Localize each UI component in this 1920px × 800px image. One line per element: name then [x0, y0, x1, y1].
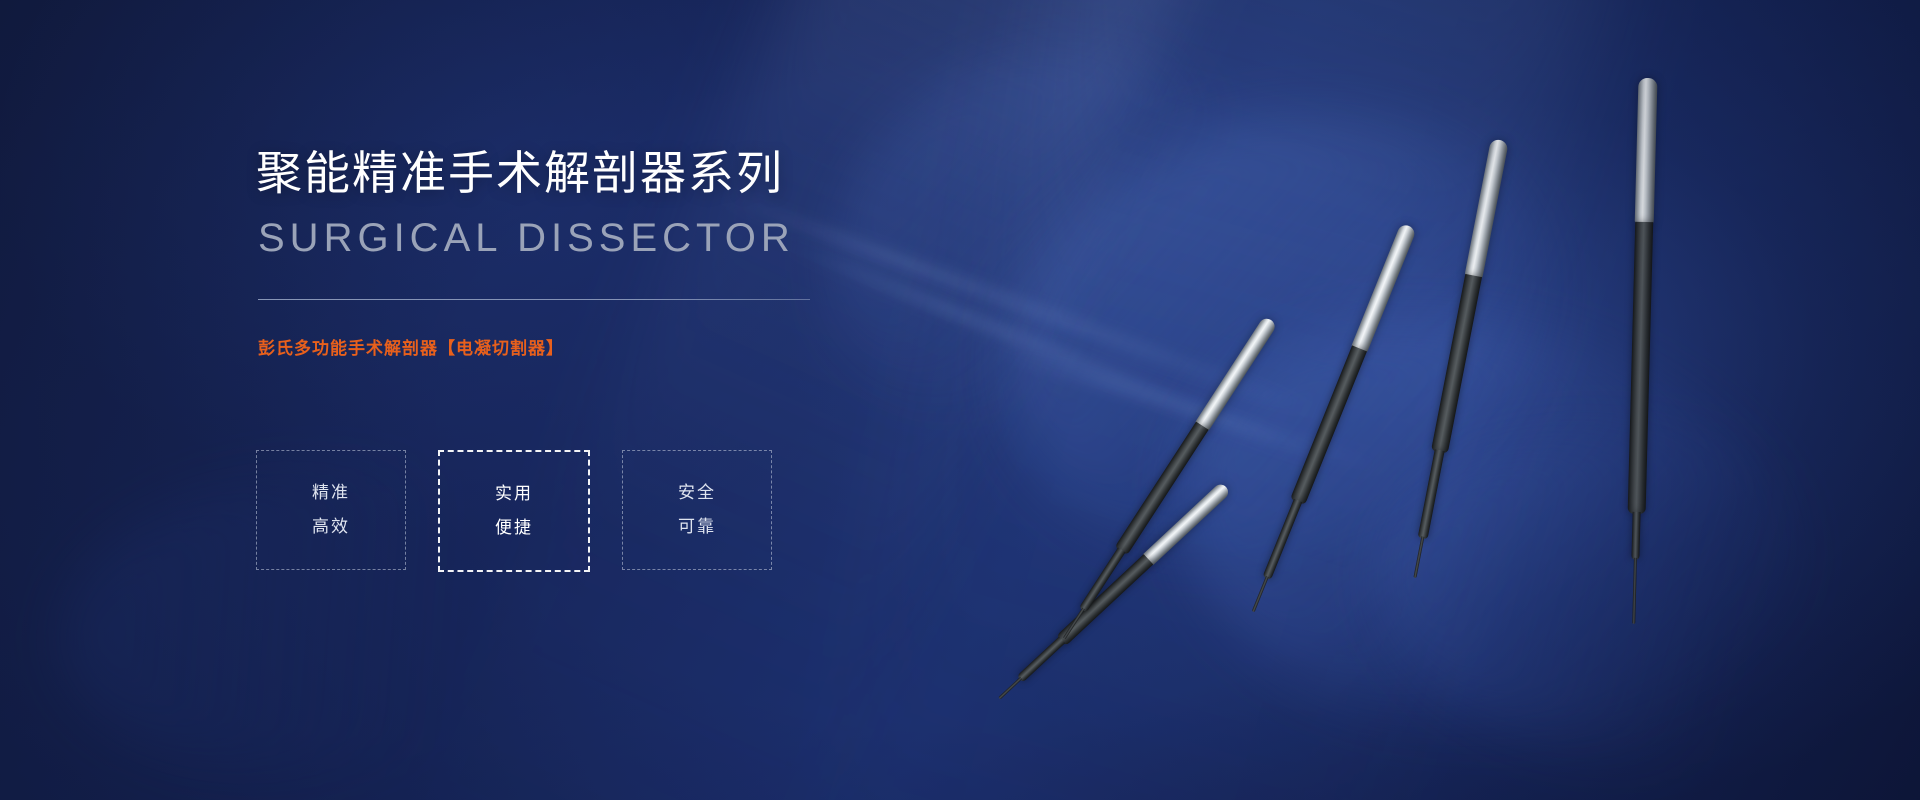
- feature-badge-practical[interactable]: 实用 便捷: [438, 450, 590, 572]
- feature-badge-line2: 可靠: [678, 510, 716, 544]
- feature-badges: 精准 高效 实用 便捷 安全 可靠: [256, 450, 772, 572]
- probe-tip: [998, 677, 1022, 700]
- page-subtitle-english: SURGICAL DISSECTOR: [258, 218, 795, 258]
- feature-badge-line1: 精准: [312, 476, 350, 510]
- probe-handle: [1351, 223, 1417, 354]
- feature-badge-precision[interactable]: 精准 高效: [256, 450, 406, 570]
- product-hero-banner: 聚能精准手术解剖器系列 SURGICAL DISSECTOR 彭氏多功能手术解剖…: [0, 0, 1920, 800]
- page-title: 聚能精准手术解剖器系列: [256, 150, 784, 196]
- probe-handle: [1195, 316, 1278, 432]
- probe-tip: [1413, 536, 1424, 578]
- probe-shaft: [1290, 345, 1367, 505]
- probe-handle: [1464, 138, 1508, 279]
- probe-tip: [1632, 558, 1637, 624]
- feature-badge-line2: 便捷: [495, 511, 533, 545]
- title-divider: [258, 299, 810, 300]
- probe-shaft-taper: [1262, 499, 1302, 580]
- probe-shaft-taper: [1631, 512, 1640, 560]
- feature-badge-line2: 高效: [312, 510, 350, 544]
- feature-badge-line1: 安全: [678, 476, 716, 510]
- hero-text-block: 聚能精准手术解剖器系列 SURGICAL DISSECTOR 彭氏多功能手术解剖…: [256, 0, 976, 800]
- probe-handle: [1635, 78, 1658, 224]
- probe-shaft: [1628, 222, 1654, 514]
- feature-badge-line1: 实用: [495, 477, 533, 511]
- probe-shaft: [1431, 274, 1482, 454]
- product-name-label: 彭氏多功能手术解剖器【电凝切割器】: [258, 340, 564, 357]
- probe-tip: [1252, 576, 1269, 612]
- probe-shaft-taper: [1017, 636, 1066, 682]
- probe-shaft-taper: [1418, 449, 1445, 539]
- feature-badge-safety[interactable]: 安全 可靠: [622, 450, 772, 570]
